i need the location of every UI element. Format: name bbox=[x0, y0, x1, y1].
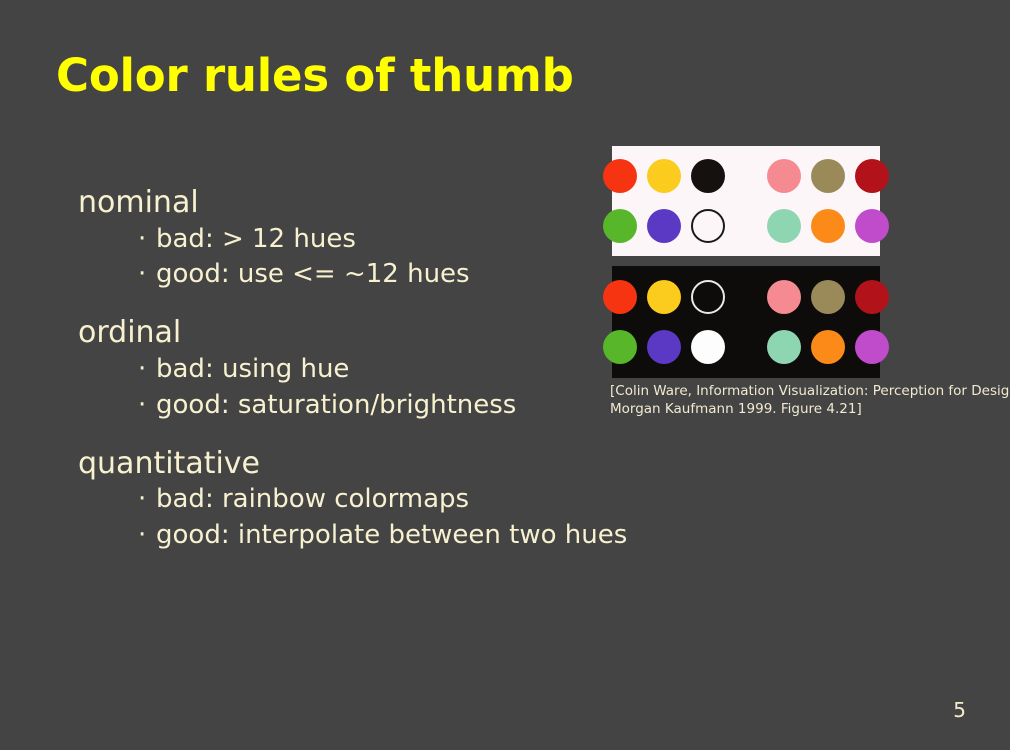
bullet-sublist: ·bad: rainbow colormaps·good: interpolat… bbox=[78, 482, 698, 554]
color-swatch-purple bbox=[647, 330, 681, 364]
color-swatch-pink bbox=[767, 280, 801, 314]
bullet-group-heading: quantitative bbox=[78, 446, 698, 483]
color-swatch-khaki bbox=[811, 159, 845, 193]
color-swatch-purple bbox=[647, 209, 681, 243]
color-swatch-green bbox=[603, 330, 637, 364]
color-swatch-magenta bbox=[855, 209, 889, 243]
color-swatch-khaki bbox=[811, 280, 845, 314]
swatch-grid-gap bbox=[735, 159, 757, 193]
color-swatch-orange bbox=[811, 330, 845, 364]
color-swatch-mint bbox=[767, 330, 801, 364]
bullet-item-label: bad: > 12 hues bbox=[156, 222, 356, 258]
light-background-swatches bbox=[612, 146, 880, 256]
color-swatch-white bbox=[691, 209, 725, 243]
middot-bullet-icon: · bbox=[138, 388, 146, 424]
color-swatch-orange bbox=[811, 209, 845, 243]
bullet-item-label: good: use <= ~12 hues bbox=[156, 257, 470, 293]
color-swatch-pink bbox=[767, 159, 801, 193]
color-swatch-mint bbox=[767, 209, 801, 243]
middot-bullet-icon: · bbox=[138, 257, 146, 293]
swatch-grid bbox=[603, 280, 889, 364]
swatch-grid bbox=[603, 159, 889, 243]
figure-caption: [Colin Ware, Information Visualization: … bbox=[610, 383, 990, 419]
bullet-item-label: good: interpolate between two hues bbox=[156, 518, 627, 554]
page-number: 5 bbox=[953, 698, 966, 722]
middot-bullet-icon: · bbox=[138, 222, 146, 258]
bullet-item-label: good: saturation/brightness bbox=[156, 388, 516, 424]
bullet-item-label: bad: using hue bbox=[156, 352, 349, 388]
bullet-group: quantitative·bad: rainbow colormaps·good… bbox=[78, 446, 698, 554]
middot-bullet-icon: · bbox=[138, 352, 146, 388]
page-title: Color rules of thumb bbox=[56, 52, 574, 99]
color-swatch-figure bbox=[612, 146, 880, 378]
color-swatch-red bbox=[603, 159, 637, 193]
swatch-grid-gap bbox=[735, 209, 757, 243]
color-swatch-red bbox=[603, 280, 637, 314]
color-swatch-white bbox=[691, 330, 725, 364]
color-swatch-black bbox=[691, 159, 725, 193]
figure-caption-line-1: [Colin Ware, Information Visualization: … bbox=[610, 383, 990, 401]
color-swatch-dark-red bbox=[855, 159, 889, 193]
color-swatch-yellow bbox=[647, 280, 681, 314]
bullet-list-item: ·good: interpolate between two hues bbox=[78, 518, 698, 554]
color-swatch-magenta bbox=[855, 330, 889, 364]
color-swatch-black bbox=[691, 280, 725, 314]
dark-background-swatches bbox=[612, 266, 880, 378]
color-swatch-dark-red bbox=[855, 280, 889, 314]
color-swatch-yellow bbox=[647, 159, 681, 193]
slide-canvas: Color rules of thumb nominal·bad: > 12 h… bbox=[0, 0, 1010, 750]
middot-bullet-icon: · bbox=[138, 518, 146, 554]
swatch-grid-gap bbox=[735, 330, 757, 364]
figure-caption-line-2: Morgan Kaufmann 1999. Figure 4.21] bbox=[610, 401, 990, 419]
middot-bullet-icon: · bbox=[138, 482, 146, 518]
bullet-list-item: ·bad: rainbow colormaps bbox=[78, 482, 698, 518]
color-swatch-green bbox=[603, 209, 637, 243]
bullet-item-label: bad: rainbow colormaps bbox=[156, 482, 469, 518]
swatch-grid-gap bbox=[735, 280, 757, 314]
bullet-list-item: ·good: saturation/brightness bbox=[78, 388, 698, 424]
